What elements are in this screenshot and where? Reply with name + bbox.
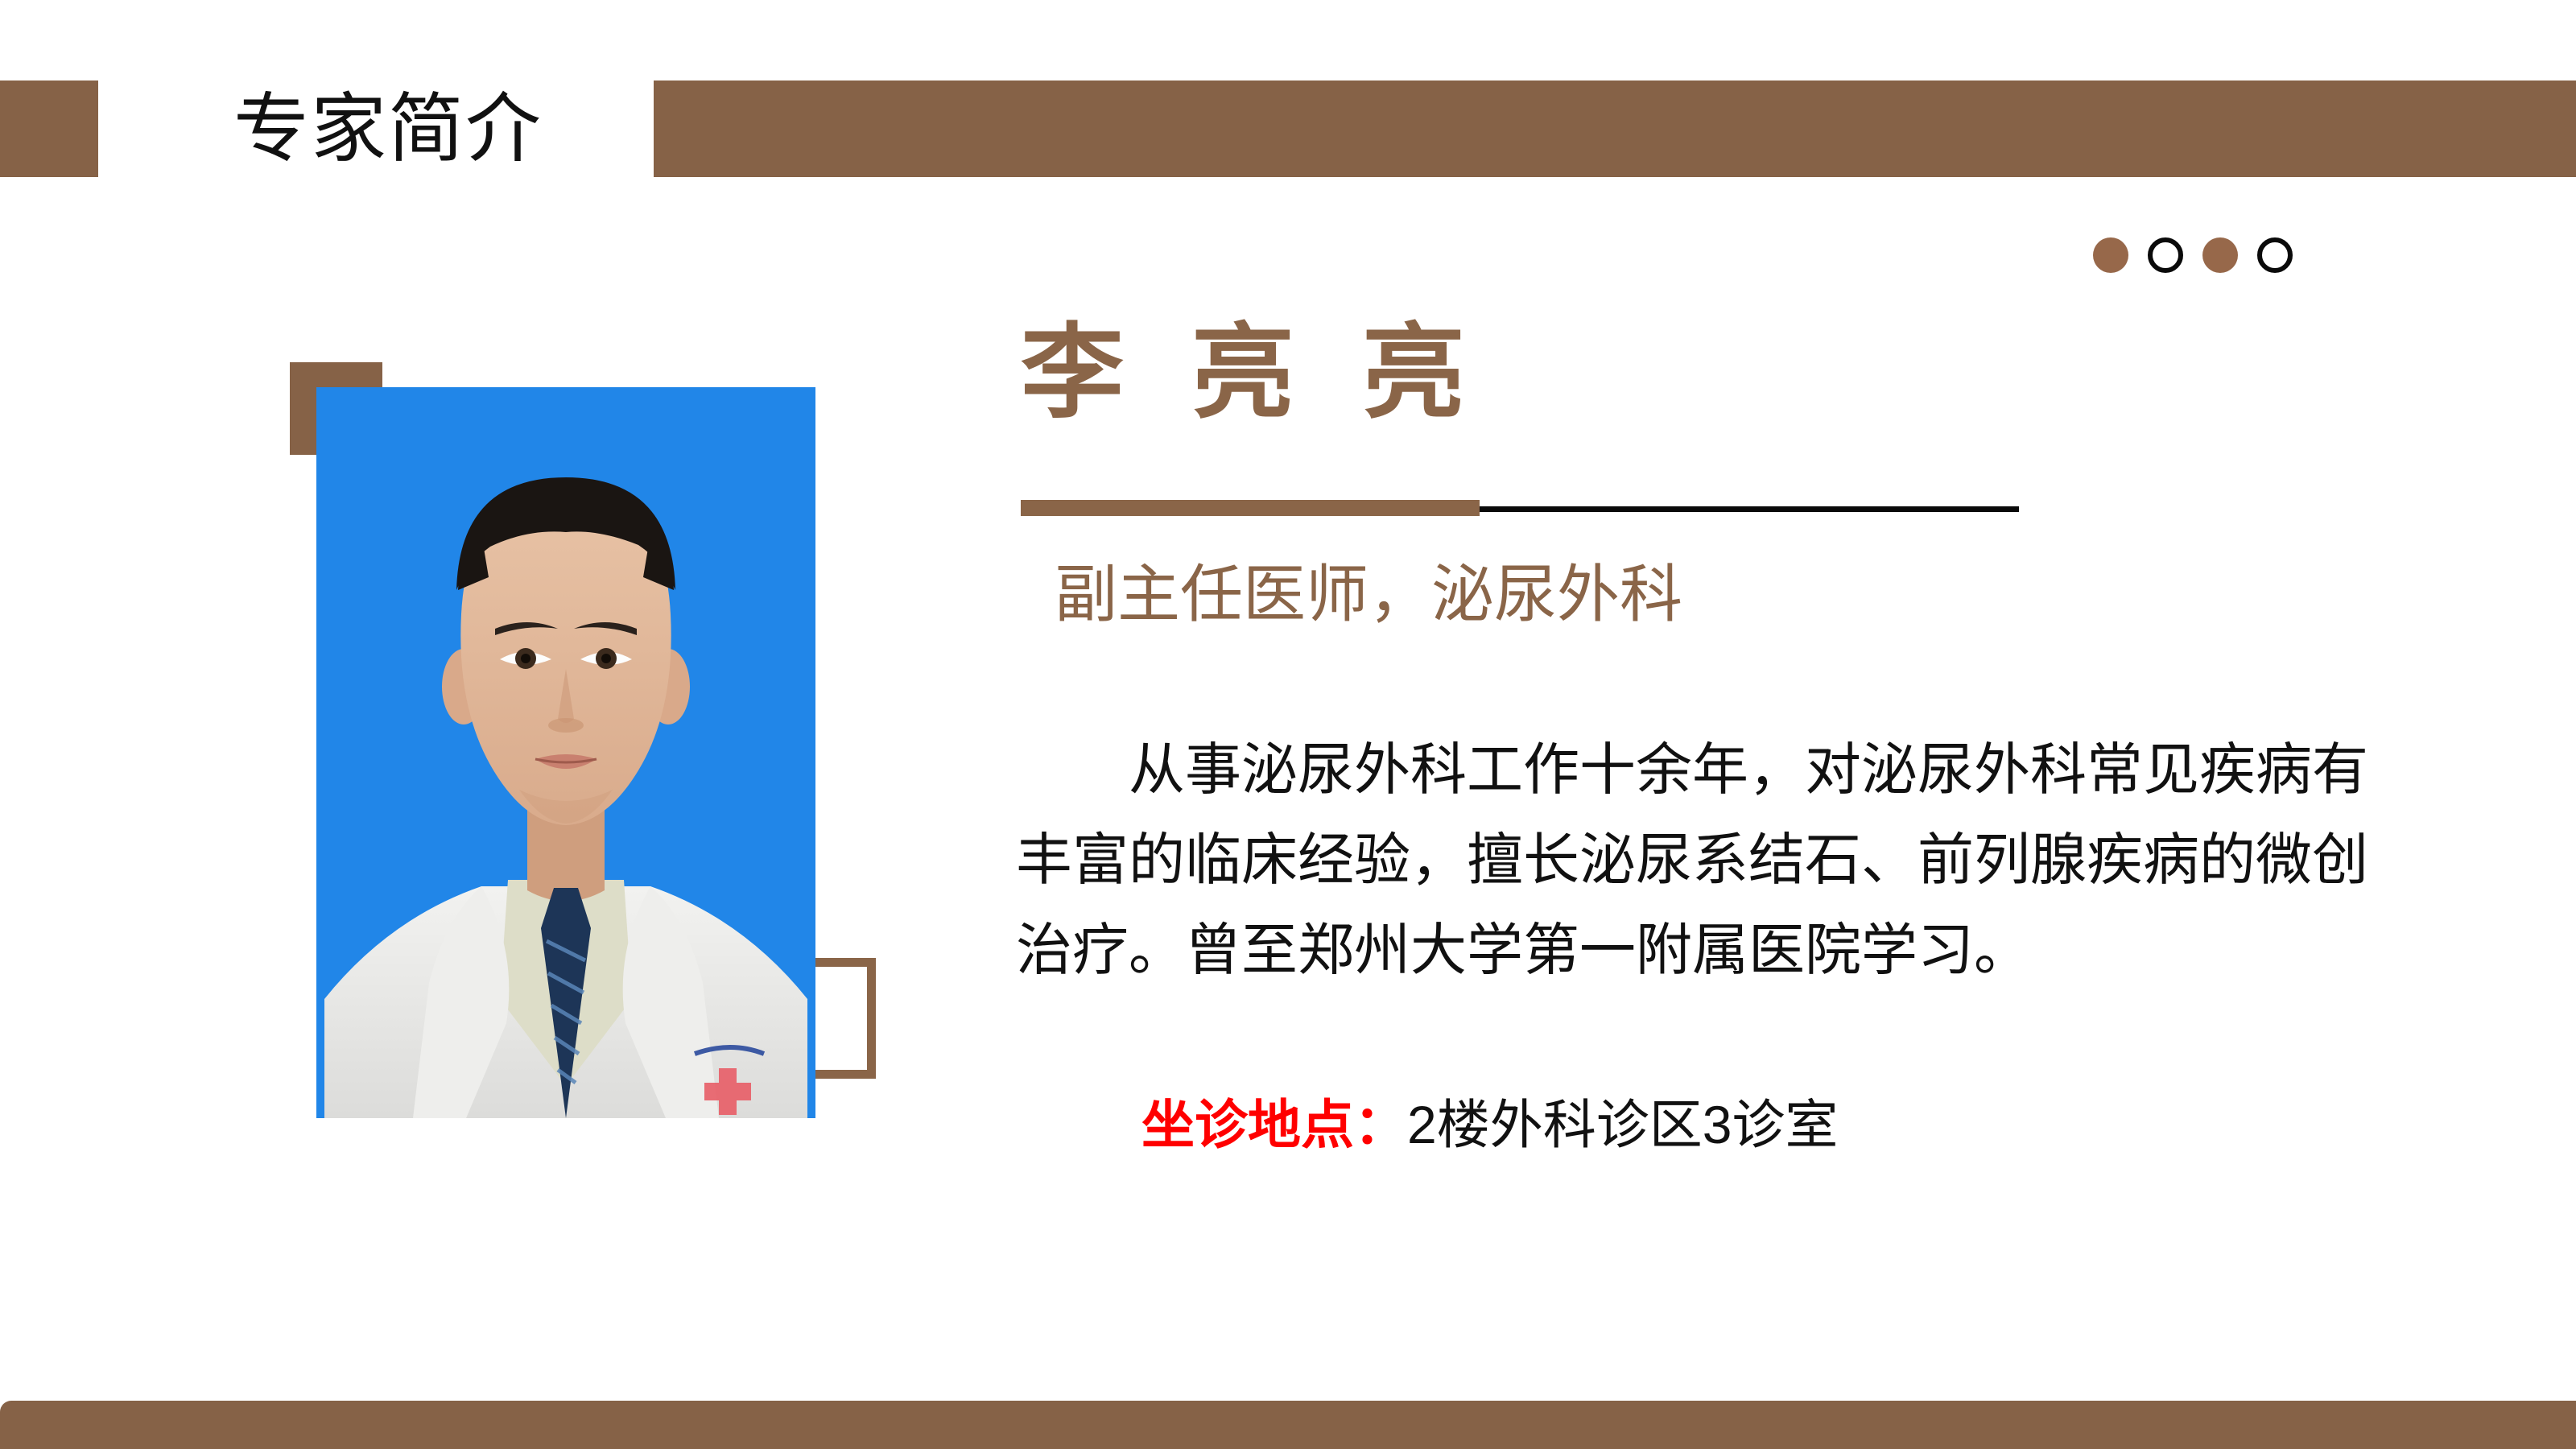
pagination-dots [2093, 237, 2293, 273]
doctor-bio-text: 从事泌尿外科工作十余年，对泌尿外科常见疾病有丰富的临床经验，擅长泌尿系结石、前列… [1016, 724, 2384, 995]
pagination-dot-1[interactable] [2093, 237, 2128, 273]
doctor-bio: 从事泌尿外科工作十余年，对泌尿外科常见疾病有丰富的临床经验，擅长泌尿系结石、前列… [1016, 724, 2384, 995]
page-title: 专家简介 [233, 77, 620, 180]
divider-thick-segment [1021, 500, 1480, 516]
portrait-group [290, 362, 861, 1135]
slide-root: 专家简介 [0, 0, 2576, 1449]
footer-bar [0, 1401, 2576, 1449]
doctor-title-department: 副主任医师，泌尿外科 [1055, 555, 1682, 634]
doctor-name: 李 亮 亮 [1021, 322, 1486, 425]
pagination-dot-4[interactable] [2257, 237, 2293, 273]
doctor-portrait-photo [316, 387, 815, 1118]
pagination-dot-2[interactable] [2148, 237, 2183, 273]
title-divider [1021, 499, 2019, 517]
clinic-location-label: 坐诊地点： [1141, 1095, 1407, 1154]
clinic-location: 坐诊地点：2楼外科诊区3诊室 [1141, 1093, 1838, 1157]
pagination-dot-3[interactable] [2202, 237, 2238, 273]
divider-thin-segment [1480, 506, 2019, 512]
header-accent-block-left [0, 80, 98, 177]
clinic-location-value: 2楼外科诊区3诊室 [1407, 1095, 1838, 1154]
header-accent-bar-right [654, 80, 2576, 177]
